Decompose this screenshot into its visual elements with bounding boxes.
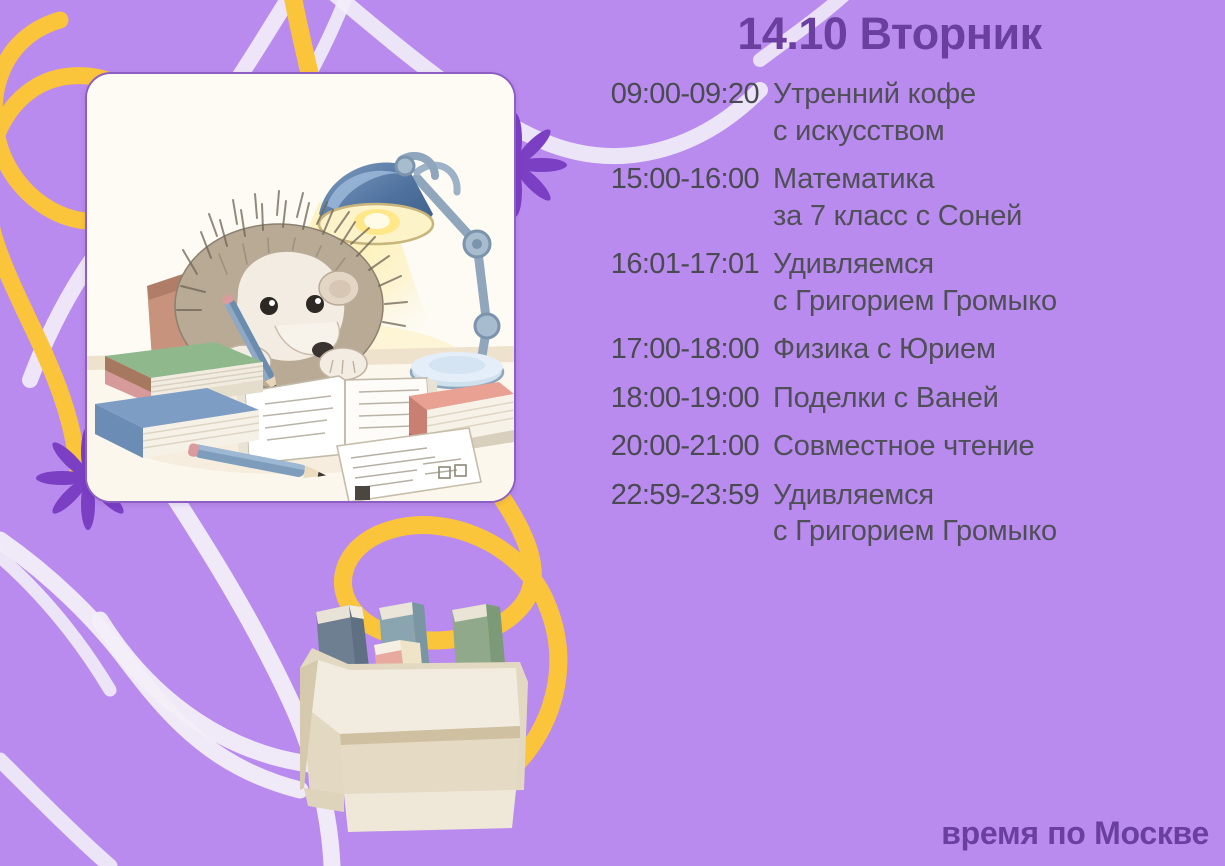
schedule-row-event: Утренний кофе с искусством: [773, 76, 976, 149]
schedule-row-time: 15:00-16:00: [570, 161, 773, 198]
hedgehog-studying-illustration: [85, 72, 516, 503]
schedule-row-time: 22:59-23:59: [570, 477, 773, 514]
schedule-row: 18:00-19:00 Поделки с Ваней: [570, 380, 1225, 417]
schedule-row-event: Физика с Юрием: [773, 331, 996, 368]
schedule-row-event: Совместное чтение: [773, 428, 1034, 465]
schedule-row-time: 20:00-21:00: [570, 428, 773, 465]
schedule-row-time: 09:00-09:20: [570, 76, 773, 113]
schedule-row-time: 17:00-18:00: [570, 331, 773, 368]
schedule-row-event: Поделки с Ваней: [773, 380, 999, 417]
schedule-row-event: Математика за 7 класс с Соней: [773, 161, 1022, 234]
schedule-row-event: Удивляемся с Григорием Громыко: [773, 246, 1057, 319]
schedule-panel: 14.10 Вторник 09:00-09:20 Утренний кофе …: [570, 0, 1225, 866]
schedule-row: 20:00-21:00 Совместное чтение: [570, 428, 1225, 465]
schedule-poster: 14.10 Вторник 09:00-09:20 Утренний кофе …: [0, 0, 1225, 866]
page-title: 14.10 Вторник: [570, 8, 1209, 60]
schedule-row-time: 18:00-19:00: [570, 380, 773, 417]
schedule-row: 17:00-18:00 Физика с Юрием: [570, 331, 1225, 368]
schedule-row-time: 16:01-17:01: [570, 246, 773, 283]
paper-bag-with-books-illustration: [300, 602, 528, 832]
schedule-row: 16:01-17:01 Удивляемся с Григорием Громы…: [570, 246, 1225, 319]
schedule-row-event: Удивляемся с Григорием Громыко: [773, 477, 1057, 550]
schedule-row: 09:00-09:20 Утренний кофе с искусством: [570, 76, 1225, 149]
timezone-note: время по Москве: [941, 815, 1209, 852]
schedule-row: 15:00-16:00 Математика за 7 класс с Соне…: [570, 161, 1225, 234]
schedule-row: 22:59-23:59 Удивляемся с Григорием Громы…: [570, 477, 1225, 550]
schedule-list: 09:00-09:20 Утренний кофе с искусством 1…: [570, 76, 1225, 562]
